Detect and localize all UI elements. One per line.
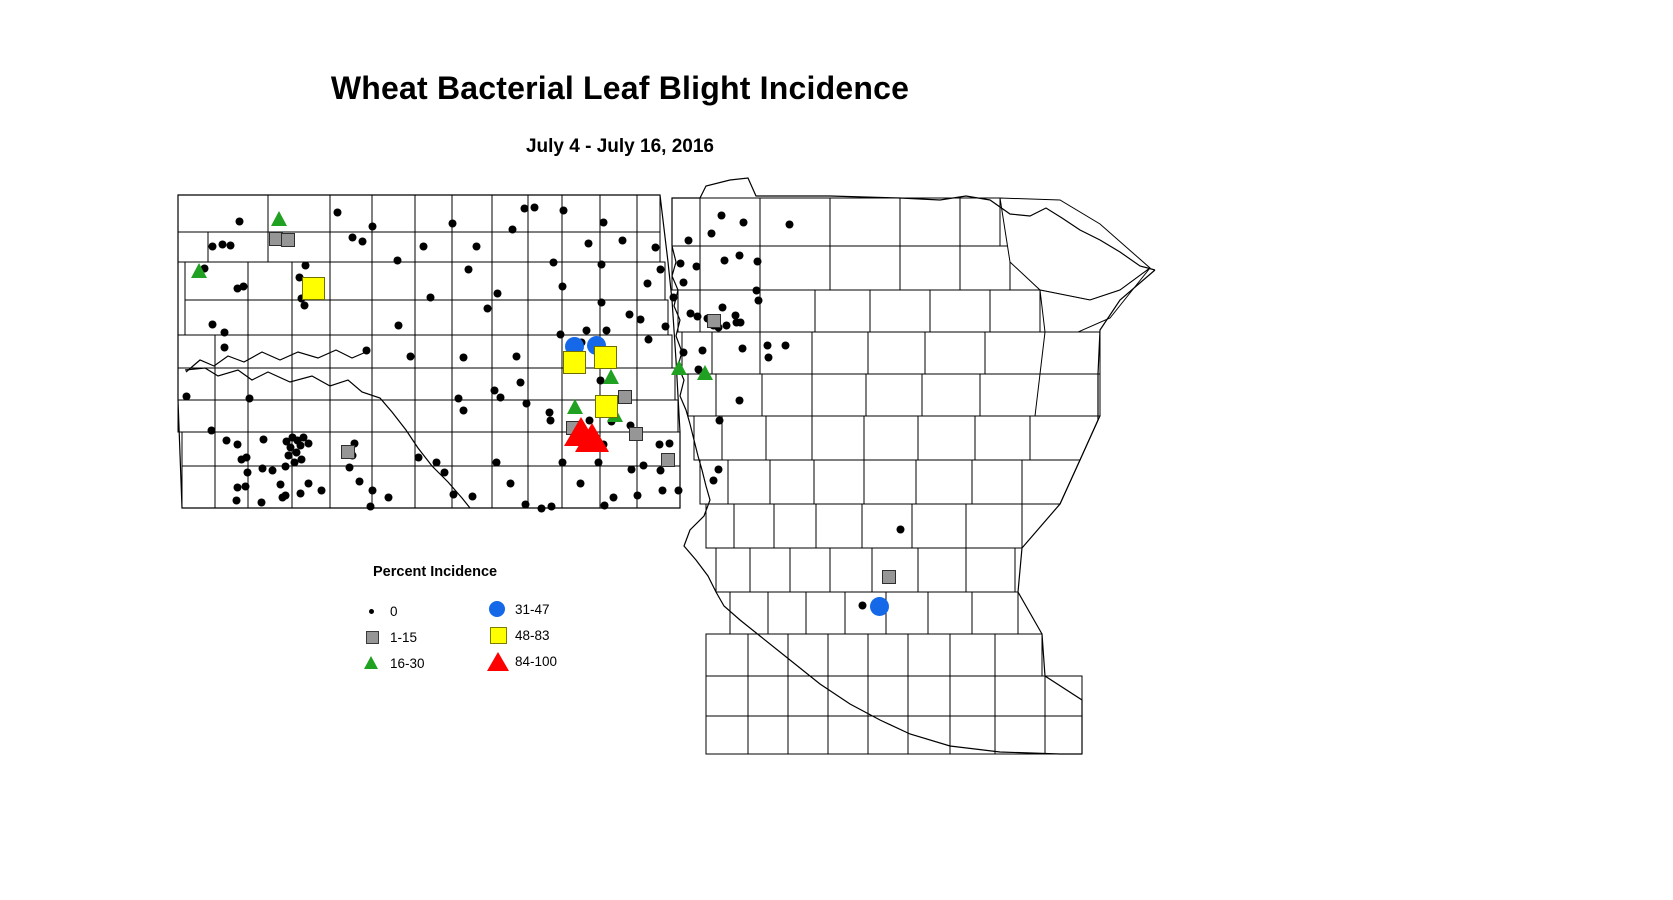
marker-incidence-0 [233,497,240,504]
county [862,504,912,548]
county [728,460,770,504]
marker-incidence-0 [209,243,216,250]
marker-incidence-0 [282,463,289,470]
marker-incidence-0 [415,454,422,461]
marker-incidence-0 [302,262,309,269]
marker-incidence-0 [619,237,626,244]
marker-incidence-0 [279,494,286,501]
marker-incidence-0 [497,394,504,401]
marker-incidence-1-15 [281,233,295,247]
county [918,548,966,592]
marker-incidence-0 [657,467,664,474]
marker-incidence-0 [420,243,427,250]
county [950,676,995,716]
county [415,300,452,335]
county [372,432,415,466]
county [600,232,637,262]
legend-item-label: 16-30 [390,656,425,671]
county [452,466,492,508]
county [766,416,812,460]
marker-incidence-0 [517,379,524,386]
county [248,335,292,368]
marker-incidence-0 [318,487,325,494]
county [637,335,672,368]
county [208,232,268,262]
county [562,262,600,300]
county [980,374,1040,416]
county [828,634,868,676]
black-dot-glyph [369,609,374,614]
marker-incidence-0 [628,466,635,473]
county [812,374,866,416]
county [372,232,415,262]
marker-incidence-0 [644,280,651,287]
marker-incidence-0 [385,494,392,501]
marker-incidence-0 [227,242,234,249]
marker-incidence-16-30 [191,263,207,278]
legend-item-label: 31-47 [515,602,550,617]
marker-incidence-0 [585,240,592,247]
county [185,300,248,335]
county [816,504,862,548]
county [966,548,1015,592]
county [770,460,814,504]
marker-incidence-0 [469,493,476,500]
marker-incidence-0 [754,258,761,265]
county [960,198,1000,246]
county [372,400,415,432]
marker-incidence-16-30 [603,369,619,384]
county [814,460,864,504]
marker-incidence-0 [716,417,723,424]
county [372,262,415,300]
marker-incidence-0 [334,209,341,216]
county [788,716,828,754]
county [600,195,637,232]
county [600,262,637,300]
marker-incidence-0 [183,393,190,400]
legend-item: 48-83 [485,622,557,648]
marker-incidence-0 [349,234,356,241]
legend-item-label: 48-83 [515,628,550,643]
marker-incidence-0 [600,219,607,226]
marker-incidence-0 [675,487,682,494]
county [330,300,372,335]
marker-incidence-0 [694,313,701,320]
red-triangle-icon [485,650,511,672]
marker-incidence-0 [739,345,746,352]
marker-incidence-0 [708,230,715,237]
marker-incidence-0 [723,322,730,329]
county [415,335,452,368]
marker-incidence-0 [223,437,230,444]
county [706,716,748,754]
marker-incidence-0 [243,454,250,461]
county [562,195,600,232]
county [985,332,1045,374]
marker-incidence-0 [287,444,294,451]
county [886,592,928,634]
marker-incidence-0 [522,501,529,508]
marker-incidence-0 [699,347,706,354]
marker-incidence-84-100 [575,423,609,452]
county [528,335,562,368]
county [1035,374,1100,416]
county [215,368,248,400]
county [1040,332,1100,374]
marker-incidence-48-83 [595,395,618,418]
marker-incidence-0 [367,503,374,510]
county [492,300,528,335]
marker-incidence-16-30 [567,399,583,414]
marker-incidence-0 [559,459,566,466]
county [637,400,678,432]
county [372,300,415,335]
county [688,374,716,416]
marker-incidence-0 [693,263,700,270]
marker-incidence-0 [433,459,440,466]
county [908,634,950,676]
marker-incidence-0 [687,310,694,317]
marker-incidence-0 [493,459,500,466]
marker-incidence-0 [656,441,663,448]
county [1045,716,1082,754]
county [528,195,562,232]
marker-incidence-0 [221,344,228,351]
marker-incidence-0 [782,342,789,349]
county [900,246,960,290]
marker-incidence-0 [645,336,652,343]
marker-incidence-0 [659,487,666,494]
blue-circle-glyph [489,601,505,617]
county [928,592,972,634]
blue-circle-icon [485,598,511,620]
county [1022,460,1080,504]
county [372,466,415,508]
marker-incidence-0 [221,329,228,336]
county [492,335,528,368]
marker-incidence-0 [786,221,793,228]
county [912,504,966,548]
marker-incidence-0 [719,304,726,311]
marker-incidence-0 [244,469,251,476]
marker-incidence-0 [753,287,760,294]
marker-incidence-0 [473,243,480,250]
county [918,416,975,460]
legend-item-label: 1-15 [390,630,417,645]
county [562,300,600,335]
marker-incidence-0 [680,349,687,356]
marker-incidence-0 [736,397,743,404]
marker-incidence-0 [301,302,308,309]
county [528,368,562,400]
marker-incidence-0 [269,467,276,474]
marker-incidence-0 [484,305,491,312]
marker-incidence-1-15 [707,314,721,328]
county [528,300,562,335]
county [292,300,330,335]
county [995,676,1045,716]
county [788,676,828,716]
county [995,634,1042,676]
marker-incidence-0 [737,319,744,326]
marker-incidence-0 [208,427,215,434]
legend-item: 31-47 [485,596,557,622]
county [812,416,864,460]
marker-incidence-0 [285,452,292,459]
legend-title: Percent Incidence [373,564,497,580]
marker-incidence-0 [557,331,564,338]
state-county-map [0,0,1673,900]
county [330,262,372,300]
county [415,195,452,232]
marker-incidence-0 [395,322,402,329]
marker-incidence-0 [666,440,673,447]
marker-incidence-0 [859,602,866,609]
marker-incidence-0 [740,219,747,226]
county [995,716,1045,754]
county [452,232,492,262]
marker-incidence-0 [897,526,904,533]
legend-item-label: 84-100 [515,654,557,669]
marker-incidence-0 [685,237,692,244]
marker-incidence-0 [258,499,265,506]
county [452,432,492,466]
legend-item: 84-100 [485,648,557,674]
marker-incidence-0 [305,440,312,447]
marker-incidence-0 [427,294,434,301]
marker-incidence-0 [455,395,462,402]
marker-incidence-0 [359,238,366,245]
marker-incidence-0 [297,442,304,449]
marker-incidence-0 [546,409,553,416]
county [528,432,562,466]
gray-square-glyph [366,631,379,644]
marker-incidence-48-83 [302,277,325,300]
marker-incidence-0 [637,316,644,323]
county [452,335,492,368]
county [637,368,675,400]
county [562,232,600,262]
marker-incidence-0 [657,266,664,273]
county [372,335,415,368]
county [830,198,900,246]
minnesota-counties [672,198,1150,754]
marker-incidence-0 [491,387,498,394]
county [760,290,815,332]
marker-incidence-0 [610,494,617,501]
marker-incidence-0 [560,207,567,214]
county [868,676,908,716]
county [908,676,950,716]
marker-incidence-0 [277,481,284,488]
marker-incidence-0 [449,220,456,227]
marker-incidence-0 [559,283,566,290]
county [864,416,918,460]
county [372,195,415,232]
county [372,368,415,400]
marker-incidence-0 [242,483,249,490]
marker-incidence-0 [394,257,401,264]
marker-incidence-0 [598,261,605,268]
marker-incidence-0 [246,395,253,402]
marker-incidence-0 [465,266,472,273]
marker-incidence-0 [732,312,739,319]
marker-incidence-0 [369,223,376,230]
county [768,592,806,634]
marker-incidence-0 [670,294,677,301]
county [712,332,760,374]
county [960,246,1010,290]
county [925,332,985,374]
marker-incidence-0 [755,297,762,304]
marker-incidence-0 [513,353,520,360]
marker-incidence-0 [407,353,414,360]
county [748,676,788,716]
county [806,592,845,634]
county [716,548,750,592]
marker-incidence-0 [601,502,608,509]
marker-incidence-0 [538,505,545,512]
county [182,466,215,508]
map-canvas [0,0,1673,900]
marker-incidence-0 [577,480,584,487]
green-triangle-icon [360,652,386,674]
legend-item-label: 0 [390,604,398,619]
marker-incidence-16-30 [671,360,687,375]
county [706,634,748,676]
county [330,400,372,432]
county [492,232,528,262]
marker-incidence-0 [521,205,528,212]
county [700,246,760,290]
marker-incidence-0 [300,434,307,441]
county [452,262,492,300]
county [750,548,790,592]
legend-item: 0 [360,598,425,624]
marker-incidence-0 [583,327,590,334]
marker-incidence-0 [598,299,605,306]
green-triangle-glyph [364,656,378,669]
legend-column-right: 31-4748-8384-100 [485,596,557,674]
marker-incidence-0 [460,354,467,361]
marker-incidence-0 [680,279,687,286]
county [528,232,562,262]
marker-incidence-0 [550,259,557,266]
county [830,246,900,290]
county [830,548,872,592]
county [790,548,830,592]
county [637,195,660,232]
county [748,716,788,754]
county [990,290,1040,332]
county [415,262,452,300]
county [762,374,812,416]
county [760,198,830,246]
county [248,300,292,335]
county [975,416,1035,460]
marker-incidence-0 [721,257,728,264]
county [774,504,816,548]
county [528,466,562,508]
county [828,716,868,754]
marker-incidence-0 [764,342,771,349]
marker-incidence-1-15 [629,427,643,441]
marker-incidence-1-15 [341,445,355,459]
county [868,332,925,374]
marker-incidence-0 [441,469,448,476]
marker-incidence-0 [369,487,376,494]
county [248,400,292,432]
marker-incidence-0 [718,212,725,219]
county [215,400,248,432]
marker-incidence-0 [710,477,717,484]
marker-incidence-0 [548,503,555,510]
county [868,634,908,676]
marker-incidence-31-47 [870,597,889,616]
county [922,374,980,416]
marker-incidence-1-15 [618,390,632,404]
county [930,290,990,332]
marker-incidence-0 [234,441,241,448]
county [868,716,908,754]
marker-incidence-0 [652,244,659,251]
county [788,634,828,676]
marker-incidence-0 [765,354,772,361]
gray-square-icon [360,626,386,648]
marker-incidence-0 [363,347,370,354]
marker-incidence-0 [356,478,363,485]
marker-incidence-0 [509,226,516,233]
marker-incidence-0 [736,252,743,259]
county [734,504,774,548]
county [330,466,372,508]
marker-incidence-0 [236,218,243,225]
marker-incidence-0 [234,484,241,491]
county [415,368,452,400]
black-dot-icon [360,600,386,622]
marker-incidence-0 [603,327,610,334]
marker-incidence-0 [460,407,467,414]
red-triangle-glyph [487,652,509,671]
marker-incidence-0 [523,400,530,407]
county [528,262,562,300]
marker-incidence-0 [209,321,216,328]
county [900,198,960,246]
county [415,400,452,432]
county [916,460,972,504]
legend-item: 1-15 [360,624,425,650]
county [528,400,562,432]
legend-item: 16-30 [360,650,425,676]
county [292,368,330,400]
marker-incidence-0 [547,417,554,424]
marker-incidence-0 [450,491,457,498]
county [815,290,870,332]
marker-incidence-0 [626,311,633,318]
county [972,460,1030,504]
county [716,374,762,416]
county [706,504,734,548]
marker-incidence-0 [297,490,304,497]
county [182,432,215,466]
marker-incidence-0 [662,323,669,330]
county [452,195,492,232]
marker-incidence-0 [595,459,602,466]
legend-column-left: 01-1516-30 [360,598,425,676]
county [562,466,600,508]
legend: Percent Incidence 01-1516-30 31-4748-838… [360,552,660,692]
